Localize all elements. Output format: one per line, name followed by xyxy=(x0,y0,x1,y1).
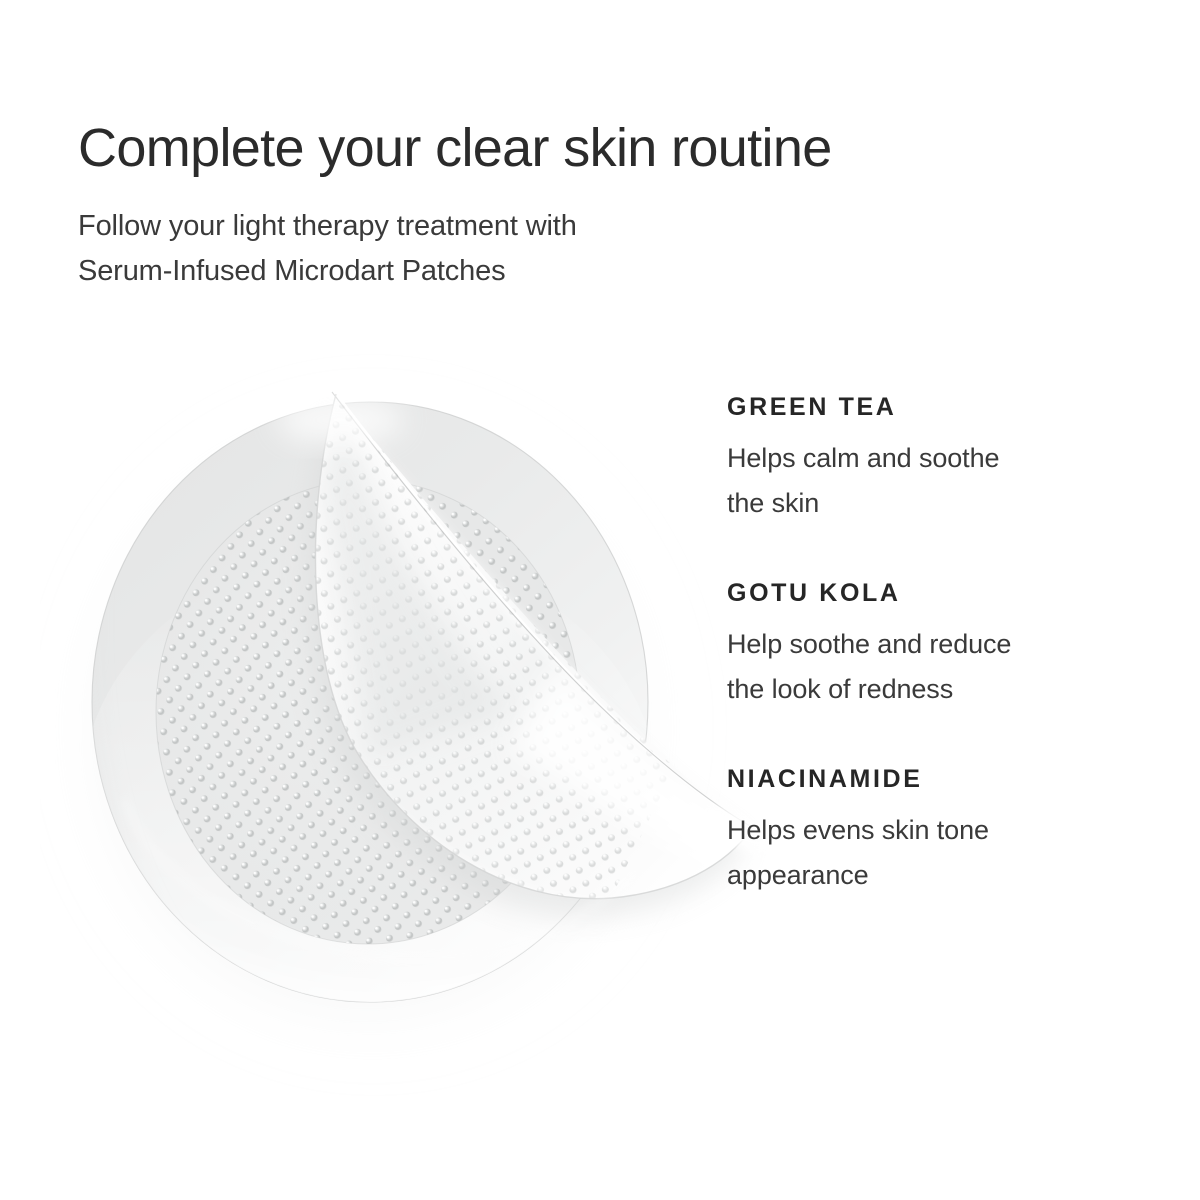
ingredient-item-green-tea: GREEN TEA Helps calm and soothe the skin xyxy=(727,392,1127,526)
ingredient-description-line-2: appearance xyxy=(727,853,1127,898)
ingredient-description-line-2: the look of redness xyxy=(727,667,1127,712)
ingredient-description: Helps calm and soothe the skin xyxy=(727,436,1127,526)
ingredient-item-niacinamide: NIACINAMIDE Helps evens skin tone appear… xyxy=(727,764,1127,898)
fold-apex-highlight xyxy=(276,396,404,444)
product-image-microdart-patch xyxy=(40,330,820,1130)
ingredient-description: Help soothe and reduce the look of redne… xyxy=(727,622,1127,712)
ingredient-description: Helps evens skin tone appearance xyxy=(727,808,1127,898)
subtitle-line-2: Serum-Infused Microdart Patches xyxy=(78,249,838,295)
ingredient-name: GREEN TEA xyxy=(727,392,1127,422)
page-subtitle: Follow your light therapy treatment with… xyxy=(78,204,838,296)
page-title: Complete your clear skin routine xyxy=(78,118,1078,180)
ingredient-description-line-1: Help soothe and reduce xyxy=(727,622,1127,667)
ingredient-name: NIACINAMIDE xyxy=(727,764,1127,794)
ingredient-name: GOTU KOLA xyxy=(727,578,1127,608)
ingredient-description-line-1: Helps evens skin tone xyxy=(727,808,1127,853)
microdart-patch-illustration xyxy=(40,330,820,1130)
header: Complete your clear skin routine Follow … xyxy=(78,118,1078,295)
product-feature-page: Complete your clear skin routine Follow … xyxy=(0,0,1200,1200)
ingredient-description-line-2: the skin xyxy=(727,481,1127,526)
ingredient-item-gotu-kola: GOTU KOLA Help soothe and reduce the loo… xyxy=(727,578,1127,712)
ingredient-list: GREEN TEA Helps calm and soothe the skin… xyxy=(727,392,1127,898)
ingredient-description-line-1: Helps calm and soothe xyxy=(727,436,1127,481)
subtitle-line-1: Follow your light therapy treatment with xyxy=(78,204,838,250)
